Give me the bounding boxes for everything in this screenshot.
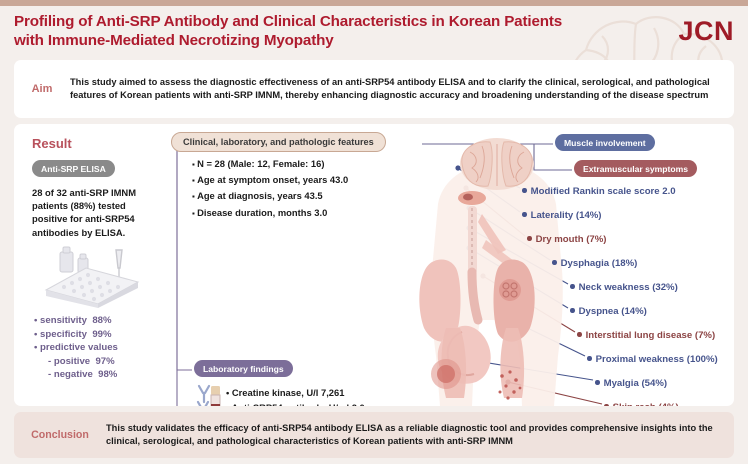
laboratory-findings-list: Creatine kinase, U/l 7,261 Anti-SRP54 an… [226,386,436,406]
symptom-label: Skin rash (4%) [613,402,679,406]
conclusion-text: This study validates the efficacy of ant… [106,422,734,449]
symptom-bullet-icon [522,212,527,217]
header: Profiling of Anti-SRP Antibody and Clini… [14,12,654,50]
symptom-label: Dry mouth (7%) [536,234,607,245]
list-item: N = 28 (Male: 12, Female: 16) [192,156,422,172]
symptom-label: Modified Rankin scale score 2.0 [531,186,676,197]
symptom-item: Myalgia (54%) [595,378,667,389]
list-item: Creatine kinase, U/l 7,261 [226,386,436,401]
symptom-item: Modified Rankin scale score 2.0 [522,186,676,197]
extramuscular-symptoms-badge: Extramuscular symptoms [574,160,697,177]
symptom-item: Proximal weakness (100%) [587,354,718,365]
title-line-2: with Immune-Mediated Necrotizing Myopath… [14,31,654,50]
result-heading: Result [32,136,72,151]
antibody-vial-icon [195,382,223,406]
symptom-item: Dysphagia (18%) [552,258,637,269]
anti-srp-elisa-badge: Anti-SRP ELISA [32,160,115,177]
aim-card: Aim This study aimed to assess the diagn… [14,60,734,118]
symptom-label: Proximal weakness (100%) [596,354,718,365]
list-item: Disease duration, months 3.0 [192,205,422,221]
symptom-bullet-icon [587,356,592,361]
symptom-bullet-icon [570,308,575,313]
symptom-bullet-icon [527,236,532,241]
stat-item: • specificity 99% [34,328,164,342]
conclusion-card: Conclusion This study validates the effi… [14,412,734,458]
top-accent-strip [0,0,748,6]
page-title: Profiling of Anti-SRP Antibody and Clini… [14,12,654,50]
clinical-features-list: N = 28 (Male: 12, Female: 16) Age at sym… [192,156,422,221]
features-header-badge: Clinical, laboratory, and pathologic fea… [171,132,386,152]
symptom-item: Dyspnea (14%) [570,306,647,317]
symptom-label: Laterality (14%) [531,210,602,221]
title-line-1: Profiling of Anti-SRP Antibody and Clini… [14,13,562,30]
symptom-label: Myalgia (54%) [604,378,667,389]
symptom-bullet-icon [577,332,582,337]
symptom-item: Skin rash (4%) [604,402,679,406]
list-item: Age at diagnosis, years 43.5 [192,188,422,204]
stat-item: • predictive values [34,341,164,355]
symptom-bullet-icon [595,380,600,385]
symptom-bullet-icon [570,284,575,289]
symptom-bullet-icon [604,404,609,406]
symptom-label: Interstitial lung disease (7%) [586,330,716,341]
symptom-item: Laterality (14%) [522,210,602,221]
stat-item: - negative 98% [34,368,164,382]
symptom-bullet-icon [522,188,527,193]
symptom-item: Dry mouth (7%) [527,234,606,245]
result-card: Result Anti-SRP ELISA 28 of 32 anti-SRP … [14,124,734,406]
aim-text: This study aimed to assess the diagnosti… [70,76,734,103]
stat-item: • sensitivity 88% [34,314,164,328]
symptom-bullet-icon [552,260,557,265]
symptom-label: Neck weakness (32%) [579,282,678,293]
elisa-summary-text: 28 of 32 anti-SRP IMNM patients (88%) te… [32,186,158,239]
muscle-involvement-badge: Muscle involvement [555,134,655,151]
list-item: Age at symptom onset, years 43.0 [192,172,422,188]
list-item: Anti-SRP54 antibody, U/ml 2.0 [226,401,436,406]
jcn-logo: JCN [678,16,734,47]
conclusion-label: Conclusion [14,429,106,441]
stat-item: - positive 97% [34,355,164,369]
symptom-label: Dyspnea (14%) [579,306,647,317]
aim-label: Aim [14,83,70,95]
elisa-plate-illustration [30,246,150,308]
symptom-label: Dysphagia (18%) [561,258,638,269]
symptom-item: Neck weakness (32%) [570,282,678,293]
elisa-statistics-list: • sensitivity 88% • specificity 99% • pr… [34,314,164,382]
symptom-item: Interstitial lung disease (7%) [577,330,715,341]
laboratory-findings-badge: Laboratory findings [194,360,293,377]
